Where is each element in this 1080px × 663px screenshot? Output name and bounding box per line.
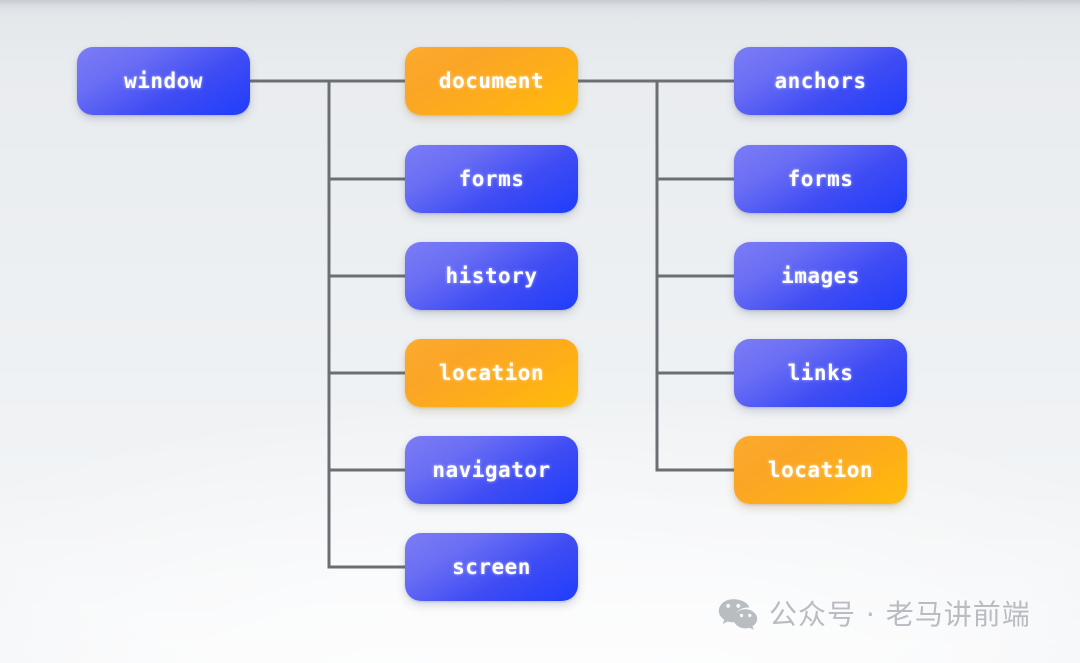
node-location[interactable]: location [405,339,578,407]
node-document-label: document [439,69,544,93]
node-forms[interactable]: forms [405,145,578,213]
node-images[interactable]: images [734,242,907,310]
node-anchors[interactable]: anchors [734,47,907,115]
watermark: 公众号 · 老马讲前端 [718,598,1031,631]
node-screen[interactable]: screen [405,533,578,601]
node-navigator-label: navigator [432,458,550,482]
wechat-icon [718,598,758,631]
node-window[interactable]: window [77,47,250,115]
node-history[interactable]: history [405,242,578,310]
node-document[interactable]: document [405,47,578,115]
top-edge-shade [0,0,1080,14]
watermark-text: 公众号 · 老马讲前端 [769,601,1031,629]
node-window-label: window [124,69,203,93]
node-anchors-label: anchors [774,69,866,93]
node-document-forms-label: forms [788,167,854,191]
node-navigator[interactable]: navigator [405,436,578,504]
node-document-location[interactable]: location [734,436,907,504]
node-screen-label: screen [452,555,531,579]
node-document-forms[interactable]: forms [734,145,907,213]
node-document-location-label: location [768,458,873,482]
node-forms-label: forms [459,167,525,191]
node-links[interactable]: links [734,339,907,407]
node-history-label: history [445,264,537,288]
node-location-label: location [439,361,544,385]
node-images-label: images [781,264,860,288]
node-links-label: links [788,361,854,385]
diagram-canvas: window document forms history location n… [0,0,1080,663]
